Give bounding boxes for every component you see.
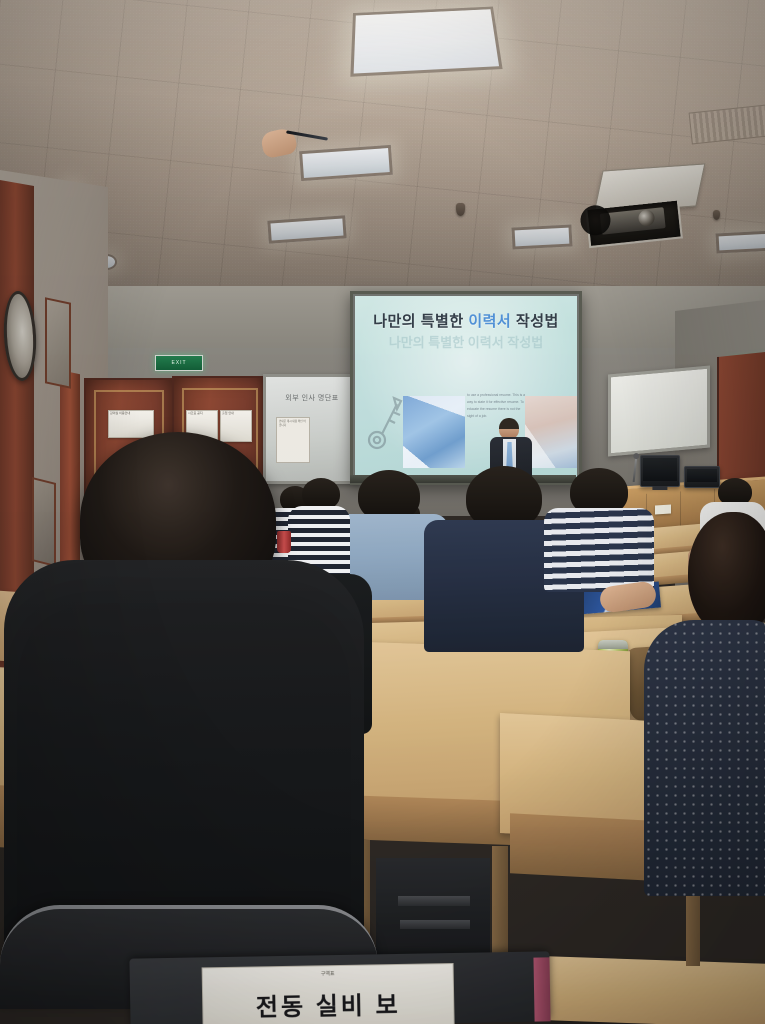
photo-scene: EXIT EXIT 강의실 이용안내 시간표 공지 출입 안내 외부 인사 명단…: [0, 0, 765, 1024]
whiteboard: [608, 366, 710, 457]
slide-title-part1: 나만의 특별한: [373, 313, 468, 330]
exit-sign-left: EXIT: [155, 355, 203, 371]
slide-image-abstract: [403, 396, 465, 468]
slide-title-ghost: 나만의 특별한 이력서 작성법: [361, 332, 571, 351]
ceiling: [0, 0, 765, 300]
slide-title-highlight: 이력서: [468, 313, 511, 330]
presenter-head: [499, 418, 519, 439]
desk-right-bottom: [548, 956, 765, 1024]
floor-placard: 구역표 전동 실비 보: [129, 951, 550, 1024]
placard-small-text: 구역표: [209, 968, 447, 984]
ceiling-shading: [0, 0, 765, 300]
can-top: [598, 640, 628, 649]
attendee-torso: [544, 508, 654, 592]
monitor-stand: [652, 486, 667, 490]
placard-accent-strip: [533, 957, 550, 1021]
attendee-torso: [644, 620, 765, 896]
notice-board-title: 외부 인사 명단표: [274, 393, 350, 403]
wall-frame: [45, 297, 71, 389]
attendee-striped-right: [544, 468, 654, 590]
exit-sign-label: EXIT: [171, 360, 186, 366]
slide-title-part2: 작성법: [511, 313, 559, 330]
attendee-woman-right: [640, 512, 765, 892]
attendee-head: [688, 512, 765, 634]
placard-main-text: 전동 실비 보: [207, 984, 450, 1023]
slide-title: 나만의 특별한 이력서 작성법: [361, 310, 571, 331]
desk-cable-tray: [400, 920, 470, 929]
desk-cable-tray: [398, 896, 470, 906]
placard-paper: 구역표 전동 실비 보: [202, 963, 455, 1024]
